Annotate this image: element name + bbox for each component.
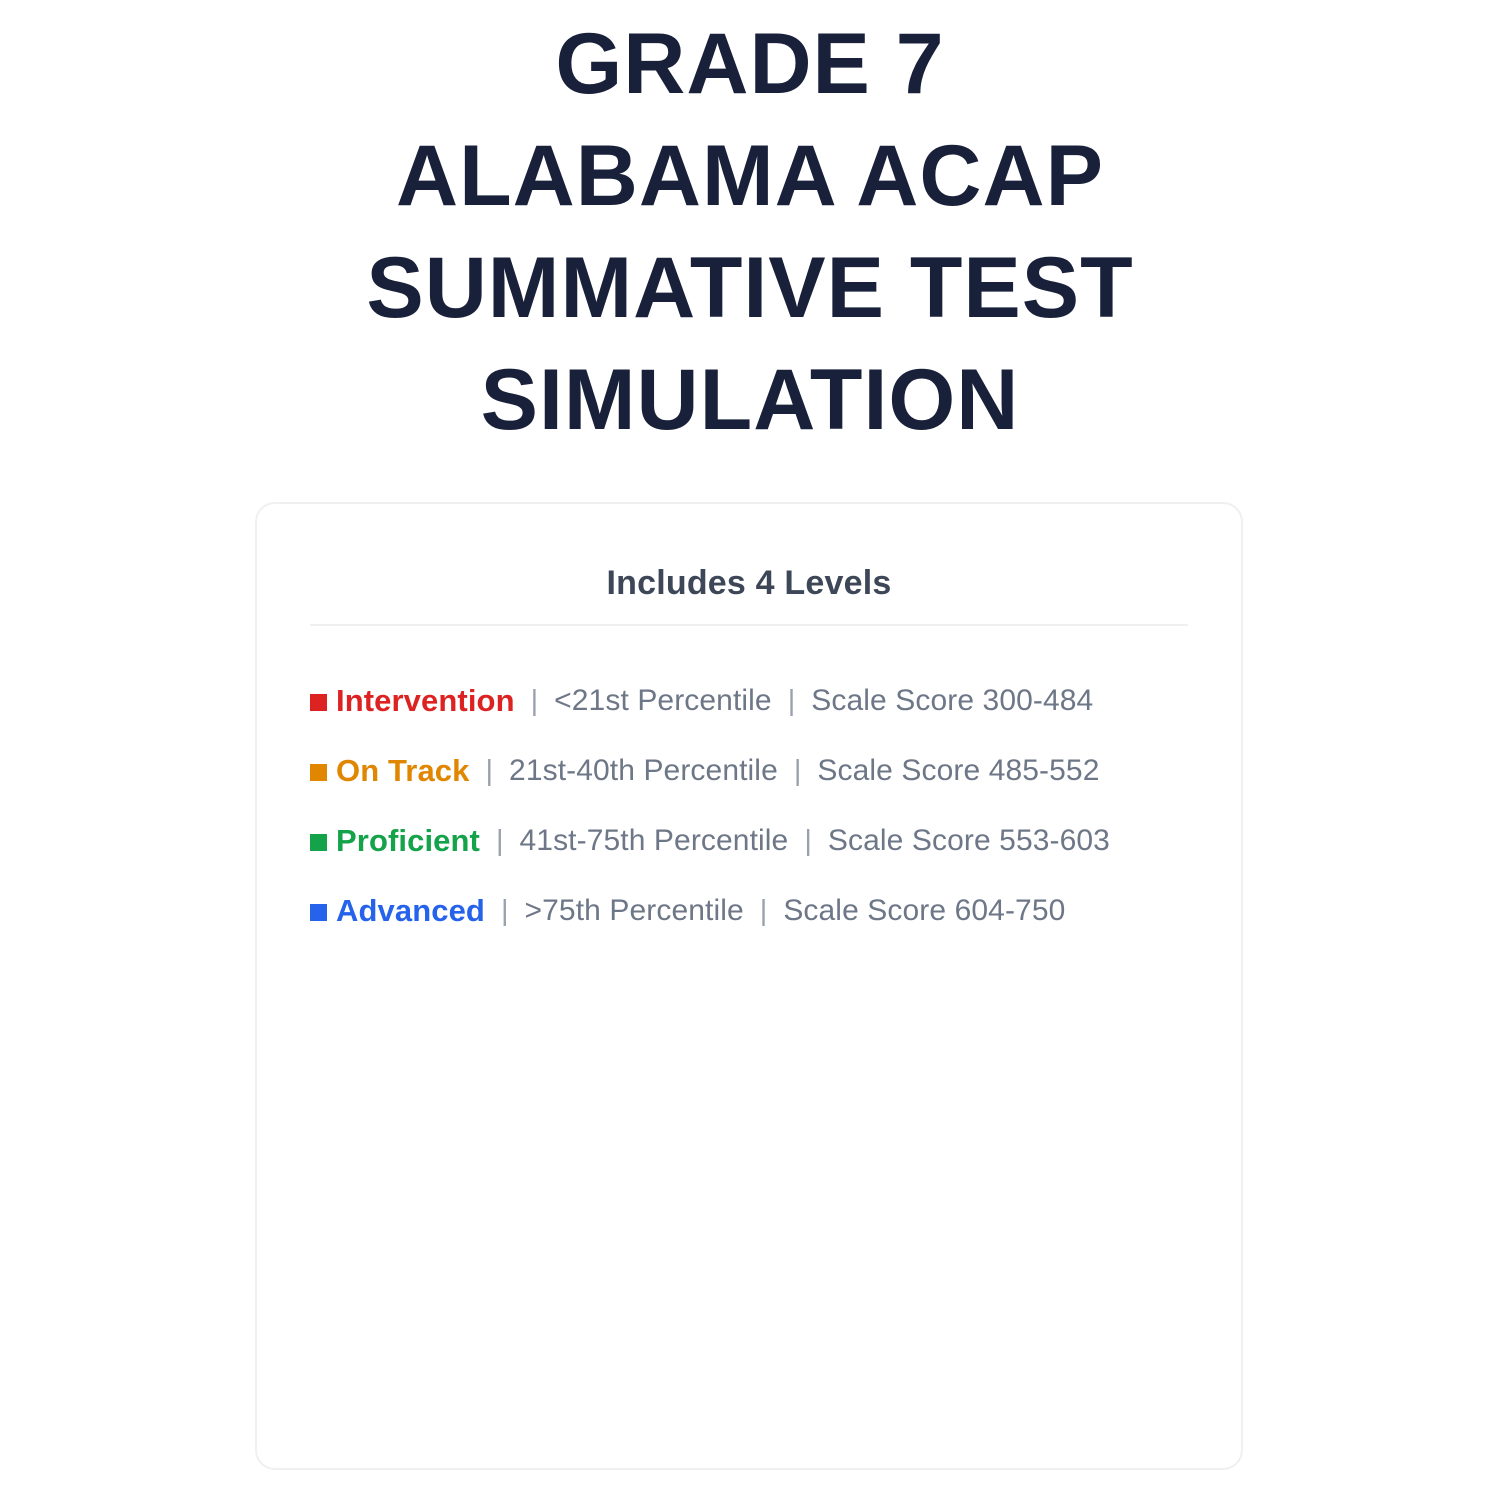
level-separator: | <box>515 683 555 719</box>
page-title-line-4: SIMULATION <box>0 344 1500 456</box>
level-row-proficient: Proficient | 41st-75th Percentile | Scal… <box>310 806 1210 876</box>
level-percentile: >75th Percentile <box>525 893 744 929</box>
page-root: GRADE 7 ALABAMA ACAP SUMMATIVE TEST SIMU… <box>0 0 1500 1500</box>
card-divider <box>310 624 1188 626</box>
level-name: On Track <box>336 753 469 789</box>
level-separator: | <box>469 753 509 789</box>
level-scale-score: Scale Score 300-484 <box>811 683 1093 719</box>
square-swatch-icon <box>310 694 327 711</box>
page-title-line-1: GRADE 7 <box>0 8 1500 120</box>
level-separator: | <box>772 683 812 719</box>
page-title-line-2: ALABAMA ACAP <box>0 120 1500 232</box>
level-separator: | <box>788 823 828 859</box>
level-name: Proficient <box>336 823 480 859</box>
square-swatch-icon <box>310 834 327 851</box>
level-separator: | <box>744 893 784 929</box>
level-separator: | <box>778 753 818 789</box>
level-separator: | <box>480 823 520 859</box>
levels-list: Intervention | <21st Percentile | Scale … <box>310 666 1210 946</box>
levels-card: Includes 4 Levels Intervention | <21st P… <box>255 502 1243 1470</box>
page-title: GRADE 7 ALABAMA ACAP SUMMATIVE TEST SIMU… <box>0 8 1500 456</box>
card-heading: Includes 4 Levels <box>257 562 1241 604</box>
level-scale-score: Scale Score 553-603 <box>828 823 1110 859</box>
page-title-line-3: SUMMATIVE TEST <box>0 232 1500 344</box>
level-percentile: <21st Percentile <box>554 683 772 719</box>
level-row-intervention: Intervention | <21st Percentile | Scale … <box>310 666 1210 736</box>
level-name: Advanced <box>336 893 485 929</box>
level-name: Intervention <box>336 683 515 719</box>
square-swatch-icon <box>310 904 327 921</box>
square-swatch-icon <box>310 764 327 781</box>
level-scale-score: Scale Score 604-750 <box>783 893 1065 929</box>
level-separator: | <box>485 893 525 929</box>
level-row-advanced: Advanced | >75th Percentile | Scale Scor… <box>310 876 1210 946</box>
level-row-on-track: On Track | 21st-40th Percentile | Scale … <box>310 736 1210 806</box>
level-percentile: 21st-40th Percentile <box>509 753 778 789</box>
level-percentile: 41st-75th Percentile <box>520 823 789 859</box>
level-scale-score: Scale Score 485-552 <box>817 753 1099 789</box>
